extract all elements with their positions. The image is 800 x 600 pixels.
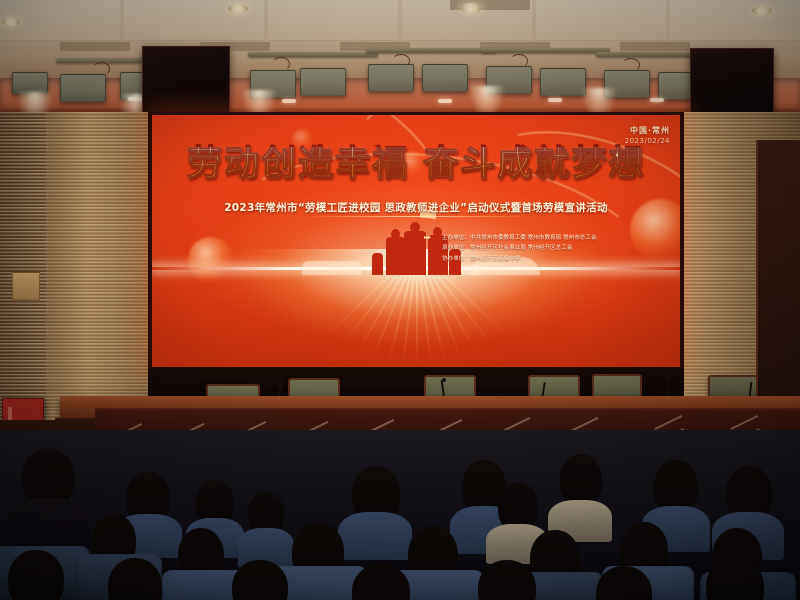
worker-silhouette [386,237,405,275]
downlight-icon [2,18,20,26]
ceiling-slot-light [548,98,562,102]
stage-light [368,64,414,92]
stage-light [422,64,468,92]
audience-area [0,430,800,600]
screen-title: 劳动创造幸福 奋斗成就梦想 [152,147,680,182]
ceiling-vent [60,42,130,51]
ceiling-slot-light [438,99,452,103]
location-date-mark: 中国·常州 2023/02/24 [625,125,670,145]
stage-light [12,72,48,94]
ceiling-speaker [142,46,230,114]
organizer-list: 主办单位：中共常州市委教育工委 常州市教育局 常州市总工会 承办单位：常州经开区… [442,233,597,264]
screen-subtitle: 2023年常州市“劳模工匠进校园 思政教师进企业”启动仪式暨首场劳模宣讲活动 [152,200,680,215]
microphone [442,378,446,382]
organizer-line: 承办单位：常州经开区社会事业局 常州经开区总工会 [442,243,597,253]
ceiling-vent [620,42,690,51]
led-screen: 劳动创造幸福 奋斗成就梦想 2023年常州市“劳模工匠进校园 思政教师进企业”启… [148,112,684,370]
audience-member [8,550,64,600]
lighting-truss [248,52,378,57]
title-divider [302,216,532,217]
led-screen-content: 劳动创造幸福 奋斗成就梦想 2023年常州市“劳模工匠进校园 思政教师进企业”启… [152,115,680,367]
ceiling-slot-light [650,98,664,102]
skyline-shape [302,261,362,275]
stage-light [60,74,106,102]
lamp-cable [272,57,290,71]
location-label: 中国·常州 [625,125,670,136]
photo-canvas: 劳动创造幸福 奋斗成就梦想 2023年常州市“劳模工匠进校园 思政教师进企业”启… [0,0,800,600]
worker-silhouette [404,231,426,275]
downlight-icon [460,3,482,13]
microphone [666,376,670,380]
downlight-icon [752,6,772,15]
audience-member [338,512,412,560]
audience-member [560,454,602,506]
audience-member [6,498,90,550]
organizer-line: 主办单位：中共常州市委教育工委 常州市教育局 常州市总工会 [442,233,597,243]
date-label: 2023/02/24 [625,137,670,145]
organizer-line: 协办单位：常州经开区初级中学 [442,254,597,264]
downlight-icon [228,4,248,13]
audience-member [478,560,536,600]
worker-silhouette [372,253,383,275]
arrow-marker-icon: ▸▸▸ [424,234,430,241]
stage-light [540,68,586,96]
lighting-truss [482,48,610,53]
stage-light [300,68,346,96]
right-doorway[interactable] [756,140,800,440]
lighting-truss [366,48,496,53]
wall-outlet [12,272,40,300]
ceiling-speaker [690,48,774,114]
microphone [279,383,283,387]
ceiling-slot-light [282,99,296,103]
